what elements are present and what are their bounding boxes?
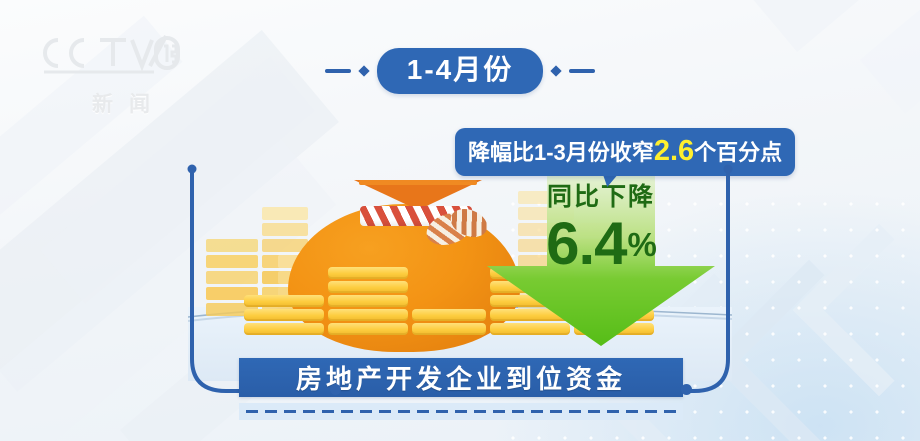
callout-bubble: 降幅比1-3月份收窄2.6个百分点 <box>455 128 795 176</box>
coin-stack <box>328 267 408 337</box>
period-title-bar: 1-4月份 <box>0 48 920 94</box>
callout-prefix: 降幅比1-3月份收窄 <box>468 140 654 165</box>
money-bag-rim <box>359 180 477 185</box>
callout-value: 2.6 <box>654 135 694 167</box>
period-title: 1-4月份 <box>377 48 543 94</box>
broadcast-graphic: 新闻 1-4月份 <box>0 0 920 441</box>
diamond-left-icon <box>358 65 369 76</box>
bracket-end-dot-right <box>681 384 692 395</box>
diamond-right-icon <box>551 65 562 76</box>
dash-left-icon <box>325 69 351 73</box>
callout-suffix: 个百分点 <box>694 140 782 165</box>
dashed-underline <box>239 403 683 420</box>
coin-stack <box>412 309 486 337</box>
bottom-banner: 房地产开发企业到位资金 <box>239 358 683 397</box>
banner-title: 房地产开发企业到位资金 <box>296 359 626 396</box>
bracket-end-dot-left <box>330 384 341 395</box>
dash-right-icon <box>569 69 595 73</box>
decline-arrow: 同比下降 6.4% <box>487 170 715 346</box>
coin-stack <box>244 295 324 337</box>
